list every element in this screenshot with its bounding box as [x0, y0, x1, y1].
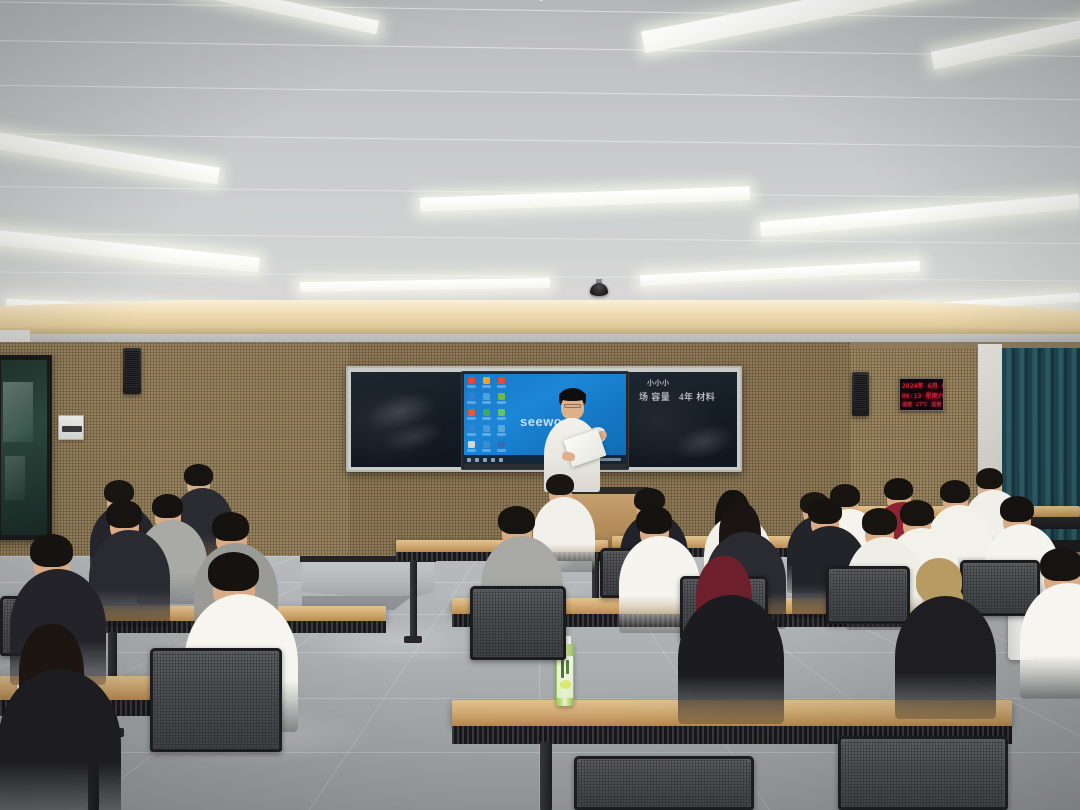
- chair-2-mesh: [474, 590, 562, 656]
- chair-8[interactable]: [838, 736, 1008, 810]
- person-17-hair: [498, 506, 535, 534]
- person-25-torso: [0, 669, 121, 810]
- chair-9[interactable]: [574, 756, 754, 810]
- audience-person-22: [916, 558, 1018, 716]
- chair-1[interactable]: [150, 648, 282, 752]
- chair-4[interactable]: [826, 566, 910, 624]
- person-13-hair: [862, 508, 897, 535]
- person-23-hair: [30, 534, 73, 567]
- person-11-hair: [1000, 496, 1034, 522]
- person-14-hair: [808, 498, 842, 524]
- chair-9-mesh: [578, 760, 750, 806]
- classroom-scene: 2024年 6月 8日 06:13 星期六 温度 27℃ 湿度 51% 小小小 …: [0, 0, 1080, 810]
- chair-1-mesh: [154, 652, 278, 748]
- person-7-hair: [546, 474, 574, 495]
- audience-person-23: [700, 556, 806, 721]
- chair-8-mesh: [842, 740, 1004, 806]
- chair-2[interactable]: [470, 586, 566, 660]
- audience-person-26: [24, 624, 147, 810]
- person-16-hair: [636, 506, 672, 534]
- audience-person-21: [1040, 548, 1080, 697]
- person-8-hair: [184, 464, 213, 486]
- person-20-hair: [1040, 548, 1080, 581]
- person-18-hair: [212, 512, 249, 541]
- person-19-hair: [106, 500, 142, 528]
- chair-4-mesh: [830, 570, 906, 620]
- person-24-hair: [208, 552, 259, 591]
- person-21-torso: [895, 596, 997, 719]
- person-22-torso: [678, 595, 784, 724]
